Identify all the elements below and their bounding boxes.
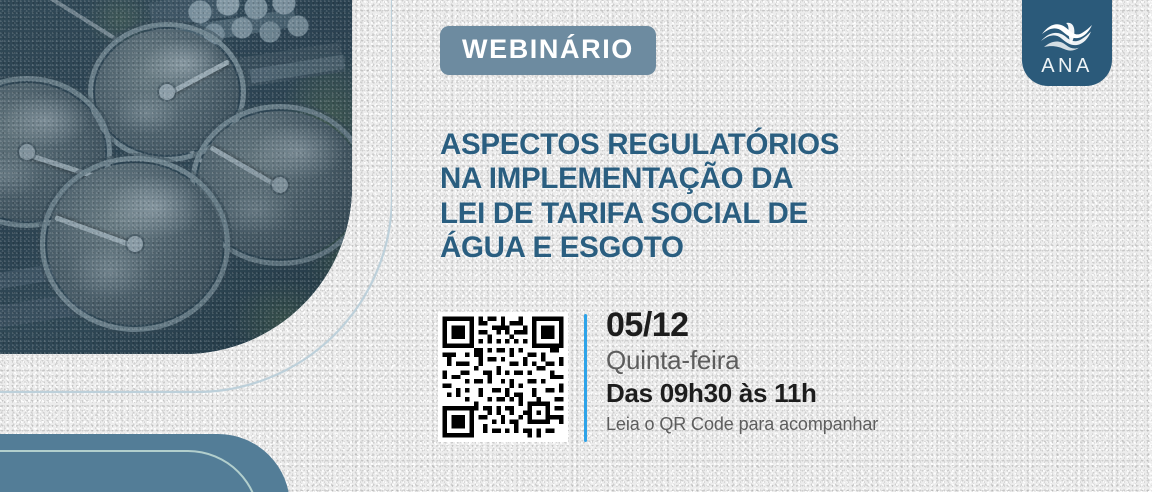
bottom-left-decorative-shape: [0, 434, 290, 492]
vertical-divider: [584, 314, 587, 442]
webinar-banner: ANA WEBINÁRIO ASPECTOS REGULATÓRIOS NA I…: [0, 0, 1152, 492]
content-column: WEBINÁRIO ASPECTOS REGULATÓRIOS NA IMPLE…: [438, 0, 1038, 492]
webinar-badge: WEBINÁRIO: [440, 26, 656, 75]
title-line-1: ASPECTOS REGULATÓRIOS: [440, 128, 910, 162]
ana-wave-icon: [1040, 18, 1094, 52]
aerial-water-treatment-plant-photo: [0, 0, 352, 354]
page-title: ASPECTOS REGULATÓRIOS NA IMPLEMENTAÇÃO D…: [440, 128, 910, 265]
qr-hint-text: Leia o QR Code para acompanhar: [606, 413, 1026, 436]
title-line-4: ÁGUA E ESGOTO: [440, 231, 910, 265]
title-line-2: NA IMPLEMENTAÇÃO DA: [440, 162, 910, 196]
qr-code-icon[interactable]: [438, 312, 568, 442]
photo-grain: [0, 0, 352, 354]
title-line-3: LEI DE TARIFA SOCIAL DE: [440, 197, 910, 231]
ana-logo: ANA: [1022, 0, 1112, 86]
event-date: 05/12: [606, 306, 1026, 344]
event-details: 05/12 Quinta-feira Das 09h30 às 11h Leia…: [606, 306, 1026, 436]
decorative-inner-line: [0, 450, 260, 492]
ana-logo-text: ANA: [1041, 56, 1093, 76]
event-weekday: Quinta-feira: [606, 345, 1026, 376]
event-time: Das 09h30 às 11h: [606, 378, 1026, 409]
